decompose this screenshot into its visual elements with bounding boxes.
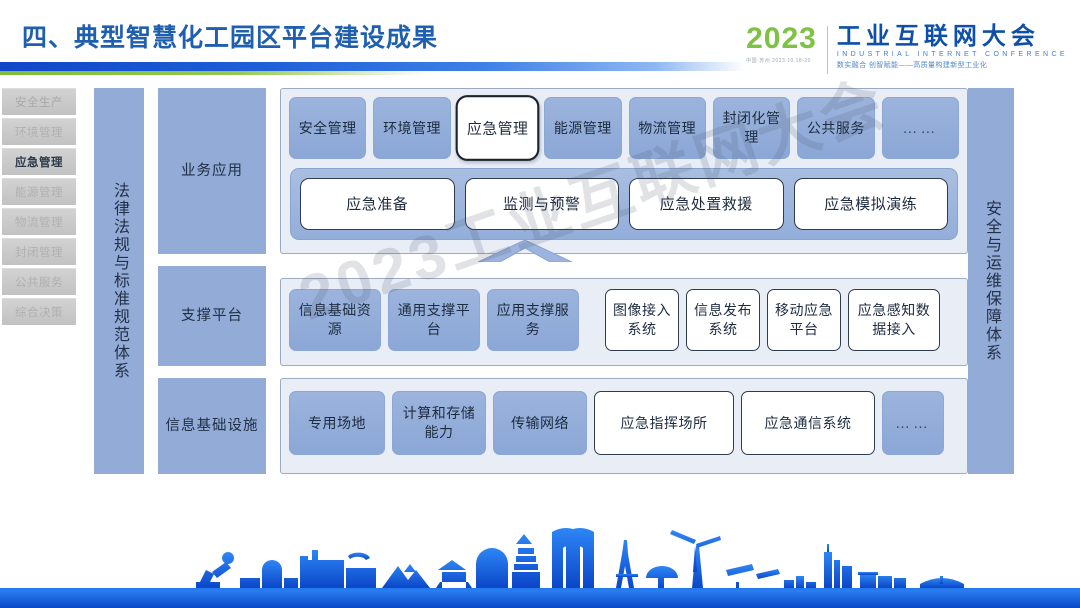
emergency-module-chip-3[interactable]: 应急模拟演练 xyxy=(794,178,949,230)
business-app-chip-4[interactable]: 物流管理 xyxy=(629,97,706,159)
business-app-chip-3[interactable]: 能源管理 xyxy=(544,97,621,159)
slide-canvas: 四、典型智慧化工园区平台建设成果 2023 中国·苏州 2023.10.18-2… xyxy=(0,0,1080,608)
business-apps-row: 安全管理环境管理应急管理能源管理物流管理封闭化管理公共服务…… xyxy=(289,97,959,159)
support-platform-row: 信息基础资源通用支撑平台应用支撑服务图像接入系统信息发布系统移动应急平台应急感知… xyxy=(289,289,959,351)
infra-generic-chip-0[interactable]: 专用场地 xyxy=(289,391,385,455)
logo-name-block: 工业互联网大会 INDUSTRIAL INTERNET CONFERENCE 数… xyxy=(837,24,1068,70)
support-specific-chip-1[interactable]: 信息发布系统 xyxy=(686,289,760,351)
menu-item-0[interactable]: 安全生产 xyxy=(2,88,76,115)
panel-emergency-modules: 应急准备监测与预警应急处置救援应急模拟演练 xyxy=(290,168,958,240)
panel-infrastructure: 专用场地计算和存储能力传输网络应急指挥场所应急通信系统…… xyxy=(280,378,968,474)
row-spacer xyxy=(586,289,598,351)
logo-divider xyxy=(827,26,828,74)
pillar-right-security-ops: 安全与运维保障体系 xyxy=(968,88,1014,474)
logo-name-cn: 工业互联网大会 xyxy=(837,24,1068,50)
divider-blue-bar xyxy=(0,62,745,71)
menu-item-6[interactable]: 公共服务 xyxy=(2,268,76,295)
row-label-infrastructure: 信息基础设施 xyxy=(158,378,266,474)
pillar-left-legal-standards: 法律法规与标准规范体系 xyxy=(94,88,144,474)
support-generic-chip-2[interactable]: 应用支撑服务 xyxy=(487,289,579,351)
infra-generic-chip-1[interactable]: 计算和存储能力 xyxy=(392,391,486,455)
menu-item-2[interactable]: 应急管理 xyxy=(2,148,76,175)
logo-year-subtitle: 中国·苏州 2023.10.18-20 xyxy=(746,57,817,64)
menu-item-1[interactable]: 环境管理 xyxy=(2,118,76,145)
panel-support-platform: 信息基础资源通用支撑平台应用支撑服务图像接入系统信息发布系统移动应急平台应急感知… xyxy=(280,278,968,366)
support-specific-chip-2[interactable]: 移动应急平台 xyxy=(767,289,841,351)
logo-year-block: 2023 中国·苏州 2023.10.18-20 xyxy=(746,24,827,64)
support-specific-chip-3[interactable]: 应急感知数据接入 xyxy=(848,289,940,351)
menu-item-4[interactable]: 物流管理 xyxy=(2,208,76,235)
emergency-module-chip-1[interactable]: 监测与预警 xyxy=(465,178,620,230)
row-label-support-platform: 支撑平台 xyxy=(158,266,266,366)
menu-item-3[interactable]: 能源管理 xyxy=(2,178,76,205)
infrastructure-row: 专用场地计算和存储能力传输网络应急指挥场所应急通信系统…… xyxy=(289,391,959,455)
emergency-module-chip-2[interactable]: 应急处置救援 xyxy=(629,178,784,230)
funnel-arrow-icon xyxy=(478,240,572,262)
conference-logo: 2023 中国·苏州 2023.10.18-20 工业互联网大会 INDUSTR… xyxy=(746,24,1068,76)
logo-name-en: INDUSTRIAL INTERNET CONFERENCE xyxy=(837,51,1068,58)
logo-year: 2023 xyxy=(746,24,817,54)
divider-green-bar xyxy=(0,71,430,75)
city-skyline-decoration xyxy=(0,512,1080,608)
infra-specific-chip-1[interactable]: 应急通信系统 xyxy=(741,391,875,455)
menu-item-7[interactable]: 综合决策 xyxy=(2,298,76,325)
business-app-chip-7[interactable]: …… xyxy=(882,97,959,159)
support-generic-chip-1[interactable]: 通用支撑平台 xyxy=(388,289,480,351)
business-app-chip-6[interactable]: 公共服务 xyxy=(797,97,874,159)
infra-specific-chip-0[interactable]: 应急指挥场所 xyxy=(594,391,734,455)
business-app-chip-0[interactable]: 安全管理 xyxy=(289,97,366,159)
page-title: 四、典型智慧化工园区平台建设成果 xyxy=(22,18,438,54)
left-menu: 安全生产环境管理应急管理能源管理物流管理封闭管理公共服务综合决策 xyxy=(2,88,76,328)
row-label-business-apps: 业务应用 xyxy=(158,88,266,254)
menu-item-5[interactable]: 封闭管理 xyxy=(2,238,76,265)
infra-generic-chip-2[interactable]: 传输网络 xyxy=(493,391,587,455)
support-specific-chip-0[interactable]: 图像接入系统 xyxy=(605,289,679,351)
business-app-chip-5[interactable]: 封闭化管理 xyxy=(713,97,790,159)
support-generic-chip-0[interactable]: 信息基础资源 xyxy=(289,289,381,351)
business-app-chip-2[interactable]: 应急管理 xyxy=(455,95,539,161)
logo-tagline: 数实融合 创智赋能——高质量构建新型工业化 xyxy=(837,60,1068,70)
emergency-module-chip-0[interactable]: 应急准备 xyxy=(300,178,455,230)
business-app-chip-1[interactable]: 环境管理 xyxy=(373,97,450,159)
architecture-diagram: 法律法规与标准规范体系 安全与运维保障体系 业务应用 支撑平台 信息基础设施 安… xyxy=(94,88,1014,474)
infra-more-chip[interactable]: …… xyxy=(882,391,944,455)
